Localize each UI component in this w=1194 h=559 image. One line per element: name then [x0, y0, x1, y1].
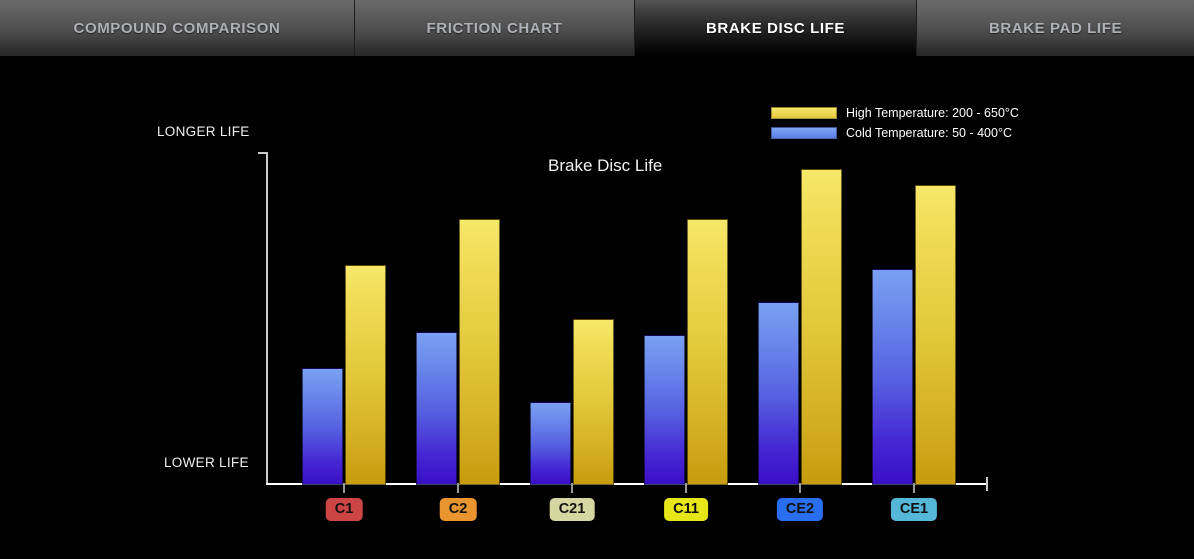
category-label-ce2[interactable]: CE2	[777, 498, 823, 521]
x-tick-ce2	[799, 483, 801, 493]
tab-label: COMPOUND COMPARISON	[74, 20, 281, 37]
category-label-c21[interactable]: C21	[550, 498, 595, 521]
category-label-c2[interactable]: C2	[440, 498, 477, 521]
chart-container: Brake Disc Life High Temperature: 200 - …	[0, 56, 1194, 559]
chart-legend: High Temperature: 200 - 650°C Cold Tempe…	[771, 104, 1019, 144]
bar-hot-ce1	[915, 185, 956, 485]
tab-brake-disc-life[interactable]: BRAKE DISC LIFE	[635, 0, 917, 56]
tab-bar: COMPOUND COMPARISON FRICTION CHART BRAKE…	[0, 0, 1194, 56]
bar-cold-c11	[644, 335, 685, 485]
legend-item-cold-temperature: Cold Temperature: 50 - 400°C	[771, 124, 1019, 141]
bar-hot-c11	[687, 219, 728, 485]
category-label-ce1[interactable]: CE1	[891, 498, 937, 521]
x-tick-c2	[457, 483, 459, 493]
bar-hot-ce2	[801, 169, 842, 485]
tab-brake-pad-life[interactable]: BRAKE PAD LIFE	[917, 0, 1194, 56]
bar-cold-c1	[302, 368, 343, 485]
category-label-c11[interactable]: C11	[664, 498, 708, 521]
x-tick-ce1	[913, 483, 915, 493]
legend-label-cold-temperature: Cold Temperature: 50 - 400°C	[846, 126, 1012, 140]
bar-hot-c21	[573, 319, 614, 486]
bar-cold-c21	[530, 402, 571, 485]
axis-label-lower-life: LOWER LIFE	[164, 455, 249, 470]
x-tick-c21	[571, 483, 573, 493]
legend-swatch-cold-temperature	[771, 127, 837, 139]
legend-item-high-temperature: High Temperature: 200 - 650°C	[771, 104, 1019, 121]
axis-label-longer-life: LONGER LIFE	[157, 124, 250, 139]
legend-swatch-high-temperature	[771, 107, 837, 119]
bar-hot-c1	[345, 265, 386, 485]
bar-cold-ce1	[872, 269, 913, 485]
legend-label-high-temperature: High Temperature: 200 - 650°C	[846, 106, 1019, 120]
bar-hot-c2	[459, 219, 500, 485]
bar-cold-ce2	[758, 302, 799, 485]
tab-friction-chart[interactable]: FRICTION CHART	[355, 0, 635, 56]
category-label-c1[interactable]: C1	[326, 498, 363, 521]
tab-label: BRAKE PAD LIFE	[989, 20, 1122, 37]
tab-compound-comparison[interactable]: COMPOUND COMPARISON	[0, 0, 355, 56]
plot-area	[266, 152, 988, 485]
tab-label: FRICTION CHART	[427, 20, 563, 37]
bar-cold-c2	[416, 332, 457, 485]
x-tick-c1	[343, 483, 345, 493]
x-tick-c11	[685, 483, 687, 493]
brake-disc-life-page: COMPOUND COMPARISON FRICTION CHART BRAKE…	[0, 0, 1194, 559]
tab-label: BRAKE DISC LIFE	[706, 20, 845, 37]
